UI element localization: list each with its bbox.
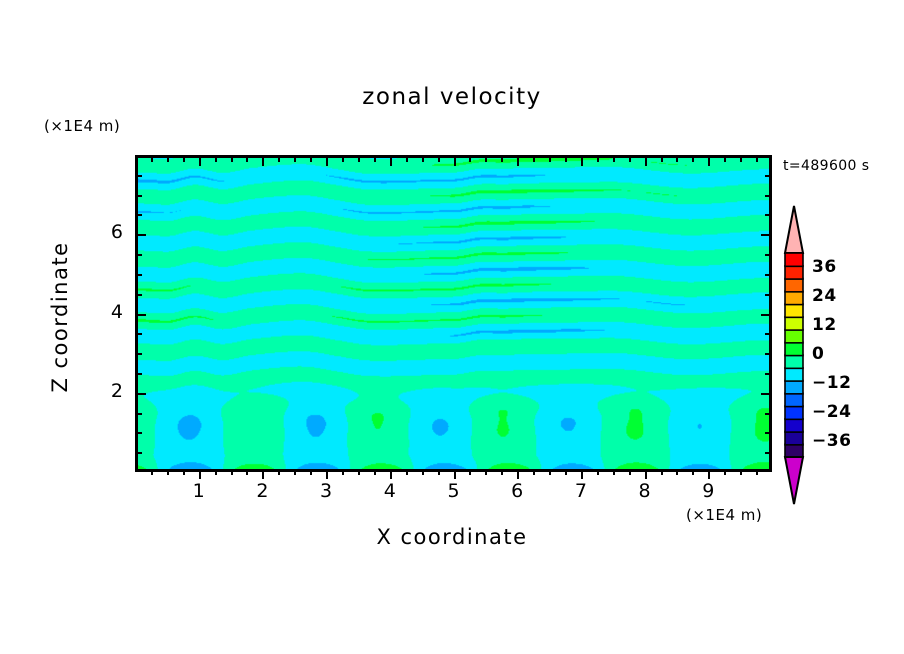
- x-tick: [517, 469, 519, 479]
- x-tick-top: [485, 156, 487, 162]
- x-tick: [645, 469, 647, 479]
- x-tick-top: [724, 156, 726, 162]
- y-tick-right: [761, 393, 771, 395]
- x-tick-top: [278, 156, 280, 162]
- colorbar-band: [785, 406, 803, 419]
- x-tick: [278, 469, 280, 475]
- x-tick-top: [390, 156, 392, 166]
- x-tick: [342, 469, 344, 475]
- y-tick: [136, 432, 142, 434]
- x-tick: [294, 469, 296, 475]
- chart-title: zonal velocity: [0, 84, 904, 110]
- y-tick: [136, 294, 142, 296]
- colorbar-tick-label: −36: [812, 431, 851, 451]
- y-tick-label: 2: [83, 380, 123, 402]
- x-tick: [724, 469, 726, 475]
- x-tick-label: 3: [306, 480, 346, 502]
- colorbar-band: [785, 253, 803, 266]
- colorbar-band: [785, 368, 803, 381]
- x-tick: [549, 469, 551, 475]
- x-tick: [167, 469, 169, 475]
- colorbar-tick-label: 12: [812, 315, 837, 335]
- x-tick: [374, 469, 376, 475]
- x-axis-unit-label: (×1E4 m): [686, 506, 762, 524]
- x-tick-top: [756, 156, 758, 162]
- colorbar-tick-label: 24: [812, 286, 837, 306]
- y-tick-label: 6: [83, 221, 123, 243]
- x-tick-label: 2: [242, 480, 282, 502]
- x-tick: [358, 469, 360, 475]
- x-tick: [485, 469, 487, 475]
- colorbar-tick-label: −24: [812, 402, 851, 422]
- y-tick-right: [765, 214, 771, 216]
- x-tick: [199, 469, 201, 479]
- y-tick-right: [765, 432, 771, 434]
- x-tick: [661, 469, 663, 475]
- y-axis-title: Z coordinate: [48, 217, 72, 417]
- x-tick-top: [215, 156, 217, 162]
- y-tick-right: [761, 314, 771, 316]
- x-tick-top: [374, 156, 376, 162]
- x-tick: [262, 469, 264, 479]
- x-tick: [565, 469, 567, 475]
- x-tick-top: [358, 156, 360, 162]
- y-tick: [136, 353, 142, 355]
- x-tick-top: [629, 156, 631, 162]
- x-tick-top: [692, 156, 694, 162]
- y-tick: [136, 214, 142, 216]
- colorbar-band: [785, 317, 803, 330]
- x-tick: [597, 469, 599, 475]
- x-tick-top: [533, 156, 535, 162]
- x-tick-label: 1: [179, 480, 219, 502]
- colorbar-tick-label: −12: [812, 373, 851, 393]
- x-tick: [390, 469, 392, 479]
- x-tick: [629, 469, 631, 475]
- x-tick-top: [708, 156, 710, 166]
- x-tick: [692, 469, 694, 475]
- x-tick-top: [581, 156, 583, 166]
- colorbar-band: [785, 355, 803, 368]
- x-tick-top: [645, 156, 647, 166]
- contour-plot-area: [135, 155, 772, 472]
- x-tick-label: 4: [370, 480, 410, 502]
- y-tick-right: [765, 353, 771, 355]
- x-tick: [246, 469, 248, 475]
- x-tick: [438, 469, 440, 475]
- y-tick: [136, 452, 142, 454]
- x-tick: [326, 469, 328, 479]
- y-tick: [136, 393, 146, 395]
- y-axis-unit-label: (×1E4 m): [44, 117, 120, 135]
- colorbar-band: [785, 342, 803, 355]
- x-tick-label: 6: [497, 480, 537, 502]
- x-tick-label: 8: [625, 480, 665, 502]
- y-tick-right: [765, 195, 771, 197]
- x-tick: [501, 469, 503, 475]
- y-tick-right: [765, 333, 771, 335]
- x-tick: [756, 469, 758, 475]
- x-tick: [215, 469, 217, 475]
- x-tick-top: [613, 156, 615, 162]
- y-tick: [136, 175, 142, 177]
- y-tick: [136, 413, 142, 415]
- y-tick: [136, 195, 142, 197]
- x-tick-top: [167, 156, 169, 162]
- x-tick-top: [342, 156, 344, 162]
- x-tick-top: [310, 156, 312, 162]
- colorbar-band: [785, 381, 803, 394]
- y-tick-right: [765, 373, 771, 375]
- x-tick: [676, 469, 678, 475]
- colorbar-band: [785, 432, 803, 445]
- y-tick: [136, 274, 142, 276]
- x-tick-top: [469, 156, 471, 162]
- time-annotation: t=489600 s: [783, 158, 869, 174]
- y-tick: [136, 333, 142, 335]
- x-tick-top: [262, 156, 264, 166]
- x-tick: [740, 469, 742, 475]
- x-tick: [454, 469, 456, 479]
- x-tick-top: [422, 156, 424, 162]
- x-tick-top: [549, 156, 551, 162]
- y-tick-right: [765, 274, 771, 276]
- x-tick-top: [661, 156, 663, 162]
- x-tick: [231, 469, 233, 475]
- figure-canvas: zonal velocity (×1E4 m) (×1E4 m) X coord…: [0, 0, 904, 654]
- x-tick-top: [406, 156, 408, 162]
- x-tick-top: [676, 156, 678, 162]
- x-tick: [613, 469, 615, 475]
- colorbar-band: [785, 279, 803, 292]
- colorbar-under-arrow: [785, 457, 803, 504]
- y-tick: [136, 373, 142, 375]
- x-tick: [310, 469, 312, 475]
- x-tick-top: [565, 156, 567, 162]
- y-tick-right: [765, 413, 771, 415]
- colorbar-tick-label: 36: [812, 257, 837, 277]
- x-tick: [581, 469, 583, 479]
- colorbar-band: [785, 444, 803, 457]
- x-tick: [708, 469, 710, 479]
- colorbar-band: [785, 419, 803, 432]
- colorbar: [783, 205, 805, 505]
- x-tick-top: [438, 156, 440, 162]
- x-tick-label: 7: [561, 480, 601, 502]
- x-tick-top: [231, 156, 233, 162]
- x-tick-label: 5: [434, 480, 474, 502]
- x-tick-top: [517, 156, 519, 166]
- y-tick: [136, 254, 142, 256]
- x-tick-top: [183, 156, 185, 162]
- x-tick-top: [501, 156, 503, 162]
- x-tick: [533, 469, 535, 475]
- x-tick: [422, 469, 424, 475]
- x-tick: [151, 469, 153, 475]
- colorbar-band: [785, 304, 803, 317]
- y-tick-right: [765, 175, 771, 177]
- colorbar-band: [785, 393, 803, 406]
- x-tick-label: 9: [688, 480, 728, 502]
- x-tick: [469, 469, 471, 475]
- x-tick-top: [199, 156, 201, 166]
- x-tick-top: [294, 156, 296, 162]
- y-tick-right: [765, 294, 771, 296]
- x-tick-top: [597, 156, 599, 162]
- colorbar-over-arrow: [785, 206, 803, 253]
- x-tick-top: [740, 156, 742, 162]
- colorbar-tick-label: 0: [812, 344, 824, 364]
- x-tick: [406, 469, 408, 475]
- colorbar-band: [785, 266, 803, 279]
- y-tick: [136, 314, 146, 316]
- x-tick-top: [246, 156, 248, 162]
- x-tick-top: [326, 156, 328, 166]
- colorbar-band: [785, 330, 803, 343]
- y-tick-right: [765, 254, 771, 256]
- colorbar-gradient: [783, 205, 805, 505]
- y-tick-right: [765, 452, 771, 454]
- x-tick-top: [454, 156, 456, 166]
- y-tick-right: [761, 234, 771, 236]
- contour-field: [138, 158, 769, 469]
- colorbar-band: [785, 291, 803, 304]
- x-tick: [183, 469, 185, 475]
- x-axis-title: X coordinate: [0, 525, 904, 549]
- y-tick-label: 4: [83, 301, 123, 323]
- y-tick: [136, 234, 146, 236]
- x-tick-top: [151, 156, 153, 162]
